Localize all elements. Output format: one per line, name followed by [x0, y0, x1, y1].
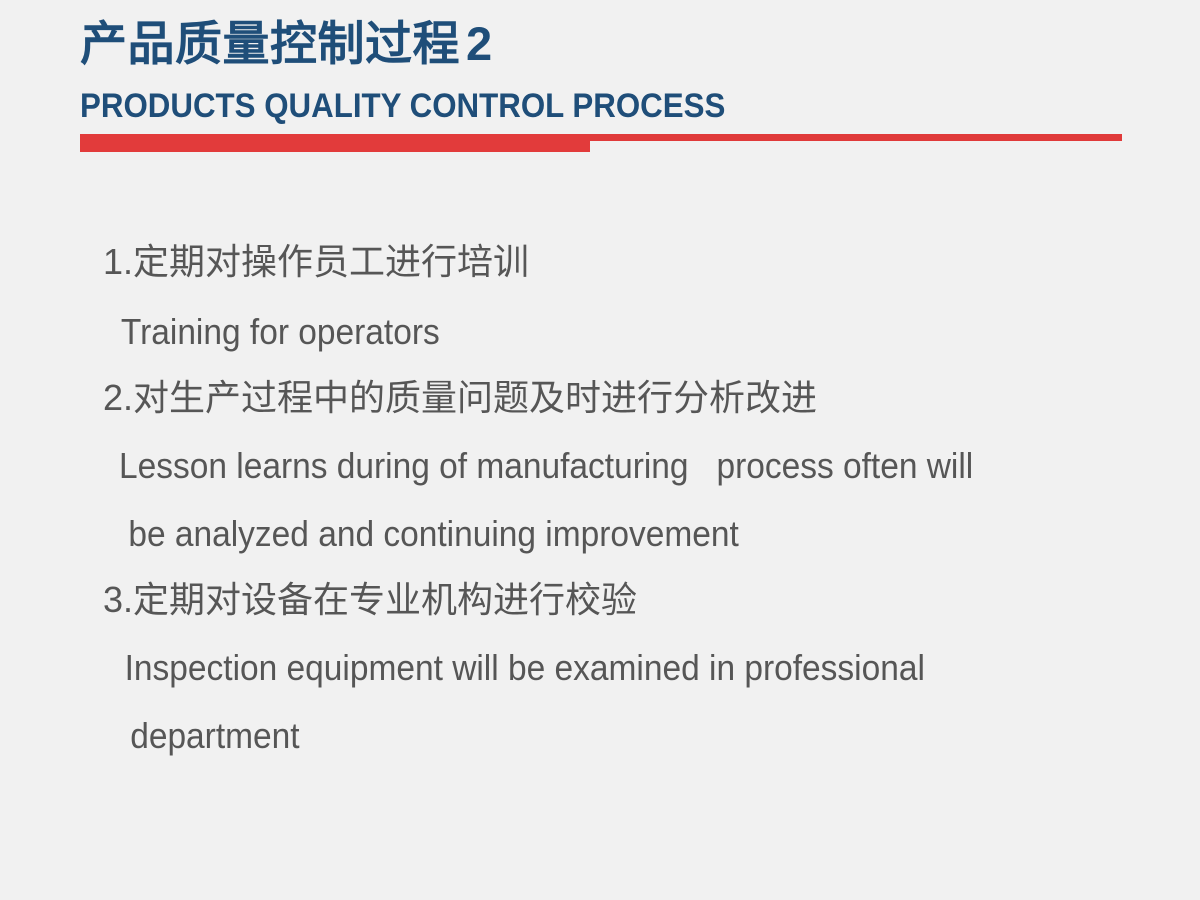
slide-header: 产品质量控制过程2 PRODUCTS QUALITY CONTROL PROCE…	[0, 0, 1200, 165]
list-item: 1.定期对操作员工进行培训 Training for operators	[0, 244, 1200, 350]
page-title-chinese-text: 产品质量控制过程	[80, 17, 460, 70]
list-item: 3.定期对设备在专业机构进行校验 Inspection equipment wi…	[0, 582, 1200, 754]
list-item-english-2-line-2: be analyzed and continuing improvement	[0, 516, 1116, 552]
list-item-english-3-line-1: Inspection equipment will be examined in…	[0, 650, 1116, 686]
list-item-english-2-line-1: Lesson learns during of manufacturing pr…	[0, 448, 1116, 484]
list-item-chinese-1: 1.定期对操作员工进行培训	[0, 244, 1200, 280]
page-subtitle-english: PRODUCTS QUALITY CONTROL PROCESS	[80, 88, 725, 125]
list-item: 2.对生产过程中的质量问题及时进行分析改进 Lesson learns duri…	[0, 380, 1200, 552]
page-title-chinese: 产品质量控制过程2	[80, 18, 493, 71]
page-title-number: 2	[466, 17, 493, 70]
list-item-chinese-2: 2.对生产过程中的质量问题及时进行分析改进	[0, 380, 1200, 416]
slide-body: 1.定期对操作员工进行培训 Training for operators 2.对…	[0, 222, 1200, 754]
list-item-english-3-line-2: department	[0, 718, 1116, 754]
list-item-english-1-line-1: Training for operators	[0, 314, 1116, 350]
list-item-chinese-3: 3.定期对设备在专业机构进行校验	[0, 582, 1200, 618]
